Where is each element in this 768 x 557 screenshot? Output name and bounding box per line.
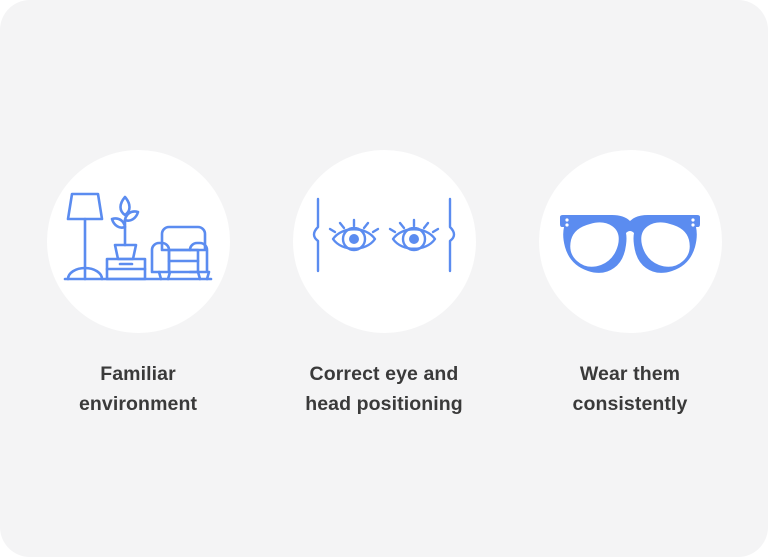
card-row: Familiar environment: [0, 0, 768, 557]
infographic-panel: Familiar environment: [0, 0, 768, 557]
icon-circle-eyeglasses: [539, 150, 722, 333]
eye-head-positioning-icon: [309, 187, 459, 297]
card-caption: Familiar environment: [79, 359, 197, 419]
card-caption: Correct eye and head positioning: [305, 359, 463, 419]
card-wear-consistently: Wear them consistently: [507, 150, 753, 419]
eyeglasses-icon: [554, 187, 706, 297]
icon-circle-familiar-environment: [47, 150, 230, 333]
card-familiar-environment: Familiar environment: [15, 150, 261, 419]
icon-circle-eye-head-positioning: [293, 150, 476, 333]
card-eye-head-positioning: Correct eye and head positioning: [261, 150, 507, 419]
card-caption: Wear them consistently: [573, 359, 688, 419]
familiar-environment-icon: [63, 187, 213, 297]
